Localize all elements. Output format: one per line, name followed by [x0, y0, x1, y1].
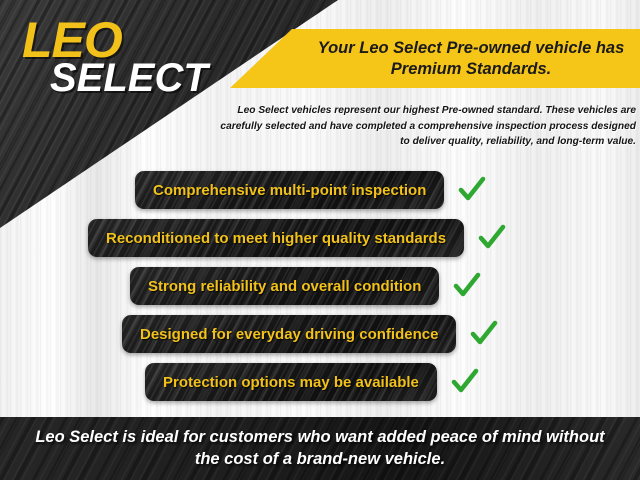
footer-text: Leo Select is ideal for customers who wa…	[30, 427, 610, 470]
feature-row: Comprehensive multi-point inspection	[0, 170, 640, 210]
check-icon	[450, 367, 480, 397]
feature-list: Comprehensive multi-point inspection Rec…	[0, 170, 640, 410]
headline-text: Your Leo Select Pre-owned vehicle has Pr…	[306, 38, 640, 79]
leo-select-logo: LEO SELECT	[22, 20, 208, 95]
feature-pill[interactable]: Comprehensive multi-point inspection	[135, 171, 444, 209]
slide-canvas: LEO SELECT Your Leo Select Pre-owned veh…	[0, 0, 640, 480]
feature-label: Strong reliability and overall condition	[148, 278, 421, 295]
feature-row: Reconditioned to meet higher quality sta…	[0, 218, 640, 258]
feature-pill[interactable]: Designed for everyday driving confidence	[122, 315, 456, 353]
check-icon	[457, 175, 487, 205]
logo-text-leo: LEO	[22, 20, 208, 61]
feature-label: Comprehensive multi-point inspection	[153, 182, 426, 199]
intro-paragraph: Leo Select vehicles represent our highes…	[218, 103, 636, 150]
check-icon	[469, 319, 499, 349]
feature-pill[interactable]: Protection options may be available	[145, 363, 437, 401]
feature-label: Designed for everyday driving confidence	[140, 326, 438, 343]
check-icon	[477, 223, 507, 253]
feature-row: Designed for everyday driving confidence	[0, 314, 640, 354]
feature-label: Protection options may be available	[163, 374, 419, 391]
feature-pill[interactable]: Reconditioned to meet higher quality sta…	[88, 219, 464, 257]
headline-banner: Your Leo Select Pre-owned vehicle has Pr…	[230, 29, 640, 88]
feature-label: Reconditioned to meet higher quality sta…	[106, 230, 446, 247]
feature-pill[interactable]: Strong reliability and overall condition	[130, 267, 439, 305]
logo-text-select: SELECT	[50, 62, 208, 95]
footer-banner: Leo Select is ideal for customers who wa…	[0, 417, 640, 480]
feature-row: Strong reliability and overall condition	[0, 266, 640, 306]
check-icon	[452, 271, 482, 301]
feature-row: Protection options may be available	[0, 362, 640, 402]
